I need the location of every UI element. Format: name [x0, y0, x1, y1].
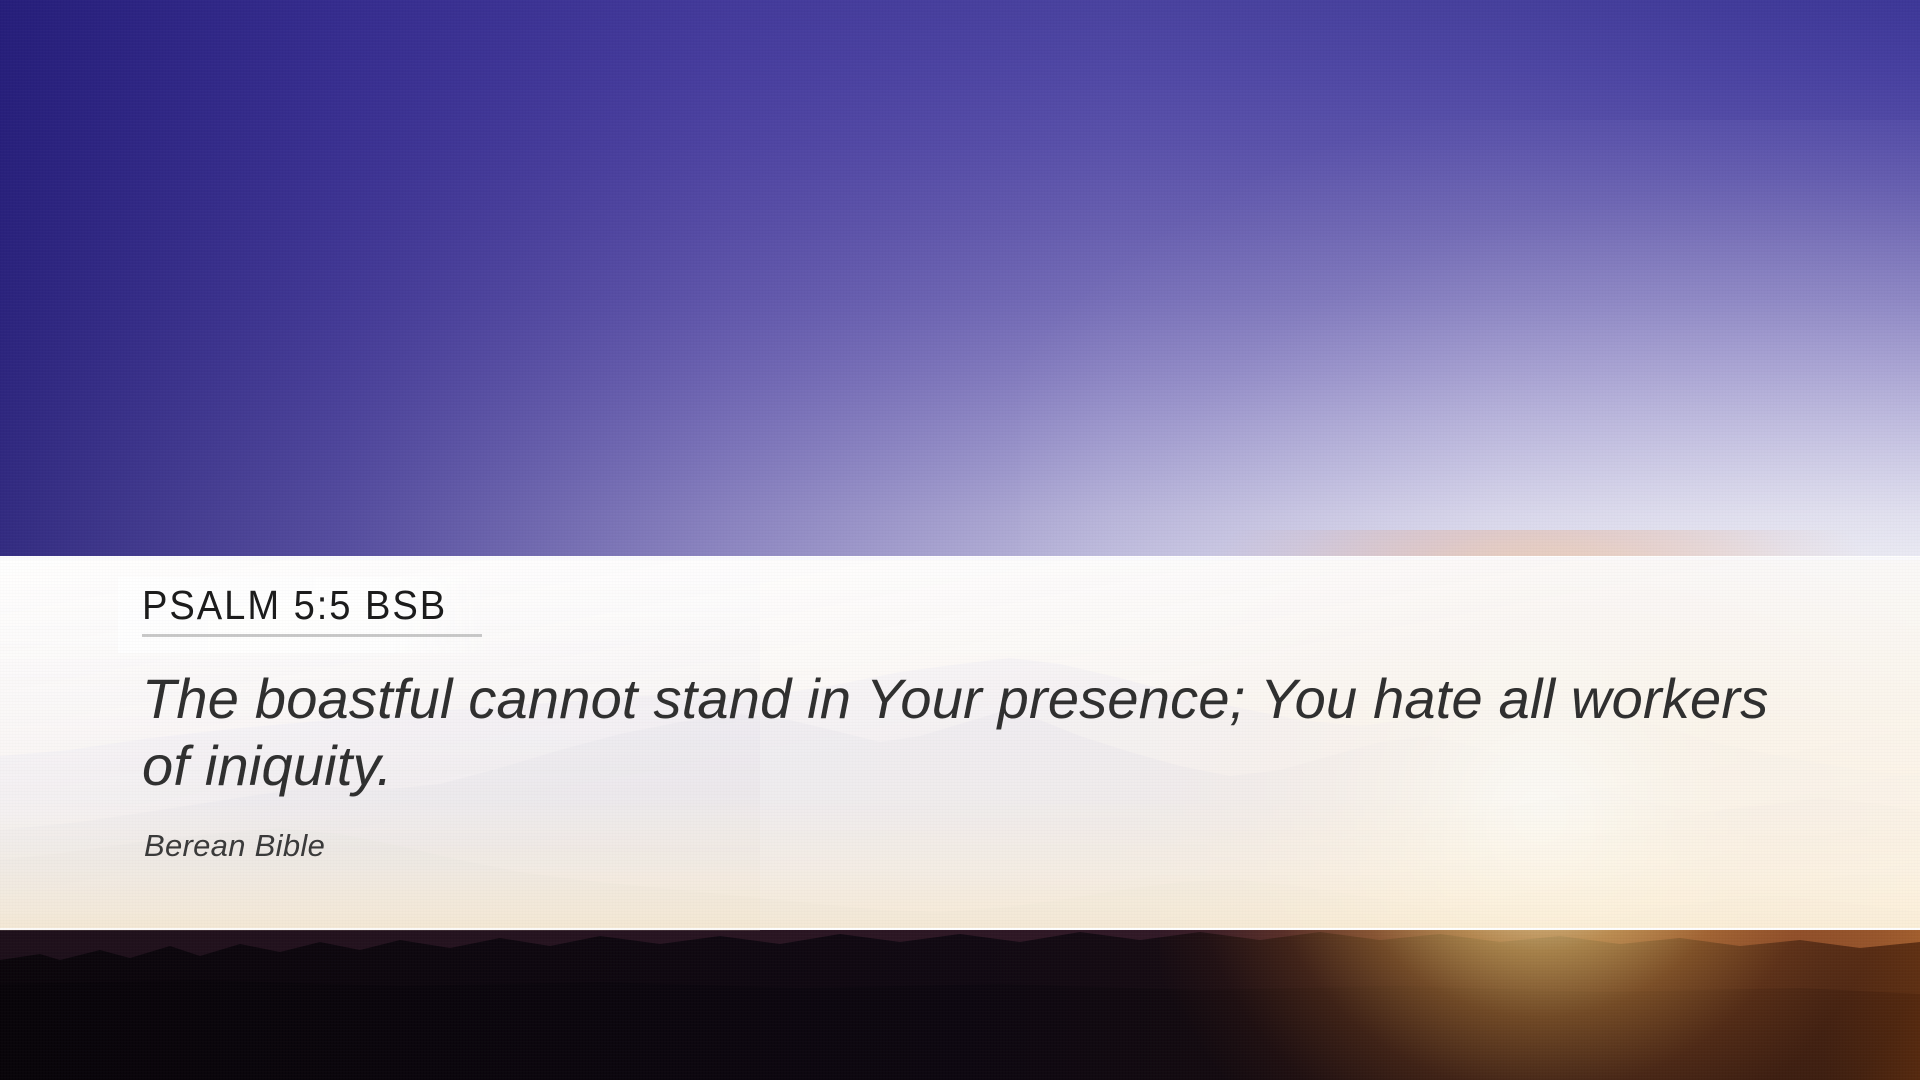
quote-band: PSALM 5:5 BSB The boastful cannot stand … [0, 556, 1920, 930]
reference-label: PSALM 5:5 BSB [142, 585, 458, 626]
foreground-mass [0, 980, 1920, 1080]
sky-background [0, 0, 1920, 560]
verse-image-card: PSALM 5:5 BSB The boastful cannot stand … [0, 0, 1920, 1080]
reference-underline [142, 634, 482, 637]
quote-content: PSALM 5:5 BSB The boastful cannot stand … [142, 557, 1782, 931]
attribution-label: Berean Bible [144, 828, 325, 864]
verse-text: The boastful cannot stand in Your presen… [142, 665, 1822, 799]
verse-reference: PSALM 5:5 BSB [142, 585, 482, 637]
